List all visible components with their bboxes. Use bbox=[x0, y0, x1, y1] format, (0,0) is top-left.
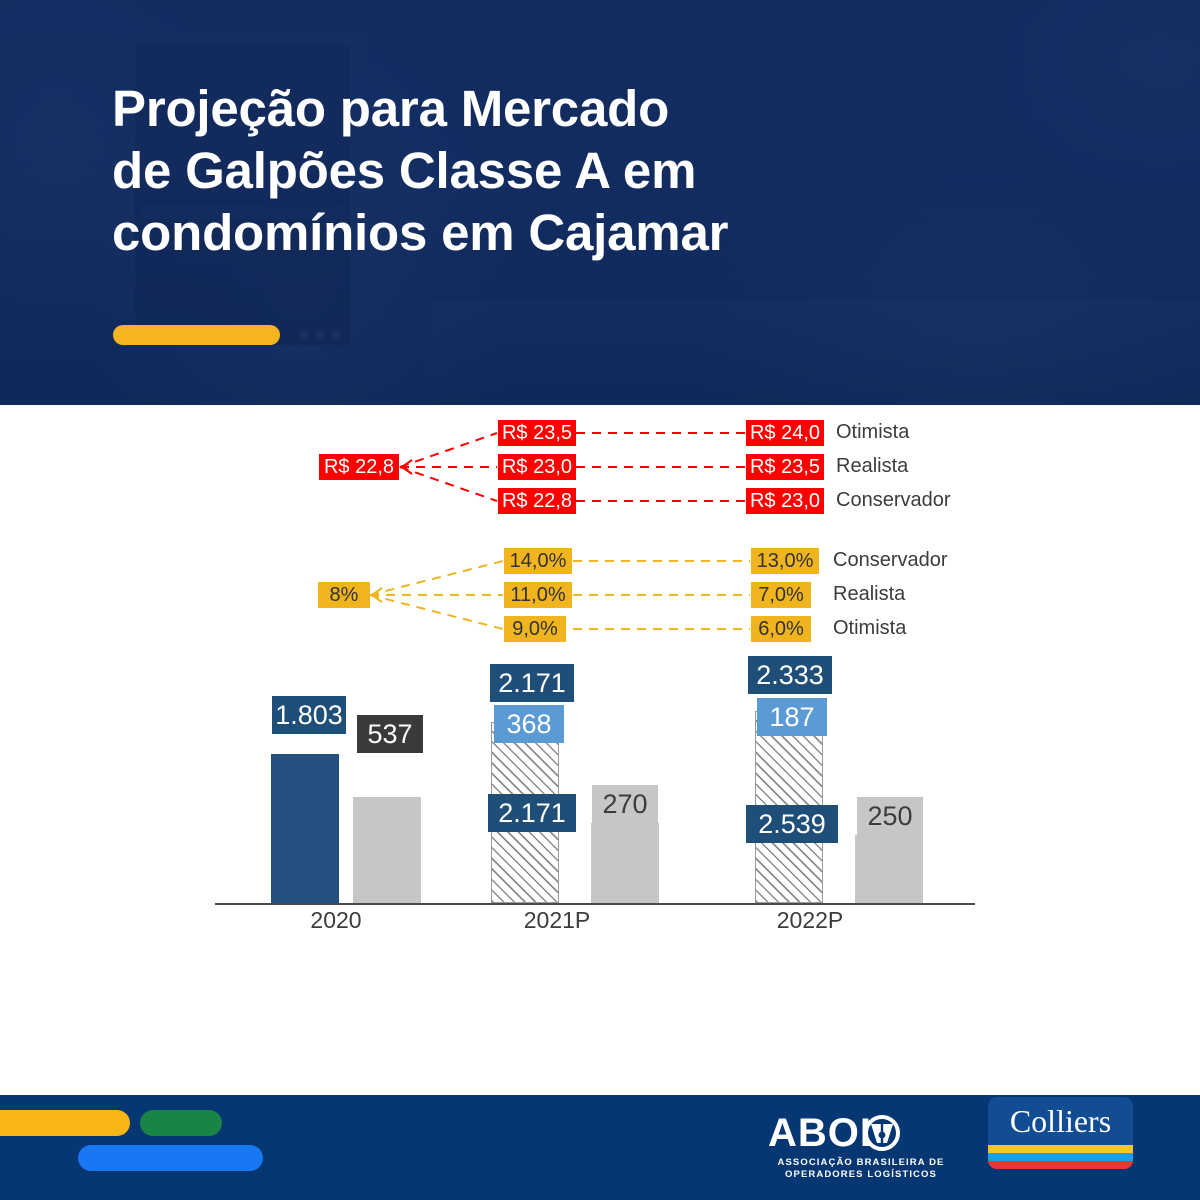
page-title-line-3: condomínios em Cajamar bbox=[112, 202, 1012, 264]
bar-label-2022p-inventario-previsto: 187 bbox=[757, 698, 827, 736]
abol-tagline-line-2: OPERADORES LOGÍSTICOS bbox=[768, 1169, 954, 1181]
title-accent-bar bbox=[113, 325, 280, 345]
bar-label-2022p-inventario-total: 2.333 bbox=[748, 656, 832, 694]
footer-deco-yellow bbox=[0, 1110, 130, 1136]
bar-2022p-absorcao-liquida bbox=[855, 835, 923, 903]
bar-label-2021p-inventario-existente: 2.171 bbox=[488, 794, 576, 832]
abol-fan-icon bbox=[868, 1119, 896, 1147]
x-axis-line bbox=[215, 903, 975, 905]
page-title-line-1: Projeção para Mercado bbox=[112, 78, 1012, 140]
colliers-logo: Colliers bbox=[988, 1097, 1133, 1169]
abol-wordmark: ABOL bbox=[768, 1113, 948, 1153]
bar-label-2021p-inventario-previsto: 368 bbox=[494, 705, 564, 743]
footer-deco-blue bbox=[78, 1145, 263, 1171]
header-banner: Projeção para Mercado de Galpões Classe … bbox=[0, 0, 1200, 405]
abol-tagline-line-1: ASSOCIAÇÃO BRASILEIRA DE bbox=[768, 1157, 954, 1169]
footer-deco-green bbox=[140, 1110, 222, 1136]
abol-logo: ABOL ASSOCIAÇÃO BRASILEIRA DE OPERADORES… bbox=[768, 1113, 948, 1183]
bar-2020-absorcao-liquida bbox=[353, 797, 421, 903]
page-title-line-2: de Galpões Classe A em bbox=[112, 140, 1012, 202]
bar-plot: 1.803 385 537 2.171 368 2.171 270 2.333 … bbox=[0, 405, 1200, 1095]
bar-label-2022p-inventario-existente: 2.539 bbox=[746, 805, 838, 843]
colliers-stripe-blue bbox=[988, 1153, 1133, 1161]
x-axis-tick-2022p: 2022P bbox=[750, 907, 870, 934]
bar-label-2021p-inventario-total: 2.171 bbox=[490, 664, 574, 702]
page-title: Projeção para Mercado de Galpões Classe … bbox=[112, 78, 1012, 265]
x-axis-tick-2020: 2020 bbox=[276, 907, 396, 934]
chart-area: R$ 22,8 R$ 23,5 R$ 24,0 Otimista R$ 23,0… bbox=[0, 405, 1200, 1095]
infographic-page: Projeção para Mercado de Galpões Classe … bbox=[0, 0, 1200, 1200]
colliers-stripe-yellow bbox=[988, 1145, 1133, 1153]
bar-label-2020-inventario-total: 1.803 bbox=[272, 696, 346, 734]
bar-label-2020-absorcao-bruta: 537 bbox=[357, 715, 423, 753]
bar-label-2021p-absorcao-liquida: 270 bbox=[592, 785, 658, 823]
x-axis-tick-2021p: 2021P bbox=[497, 907, 617, 934]
bar-2021p-absorcao-liquida bbox=[591, 823, 659, 903]
abol-tagline: ASSOCIAÇÃO BRASILEIRA DE OPERADORES LOGÍ… bbox=[768, 1157, 954, 1181]
colliers-wordmark: Colliers bbox=[988, 1103, 1133, 1140]
colliers-stripe-red bbox=[988, 1161, 1133, 1169]
bar-label-2022p-absorcao-liquida: 250 bbox=[857, 797, 923, 835]
bar-2020-inventario-existente bbox=[271, 754, 339, 903]
